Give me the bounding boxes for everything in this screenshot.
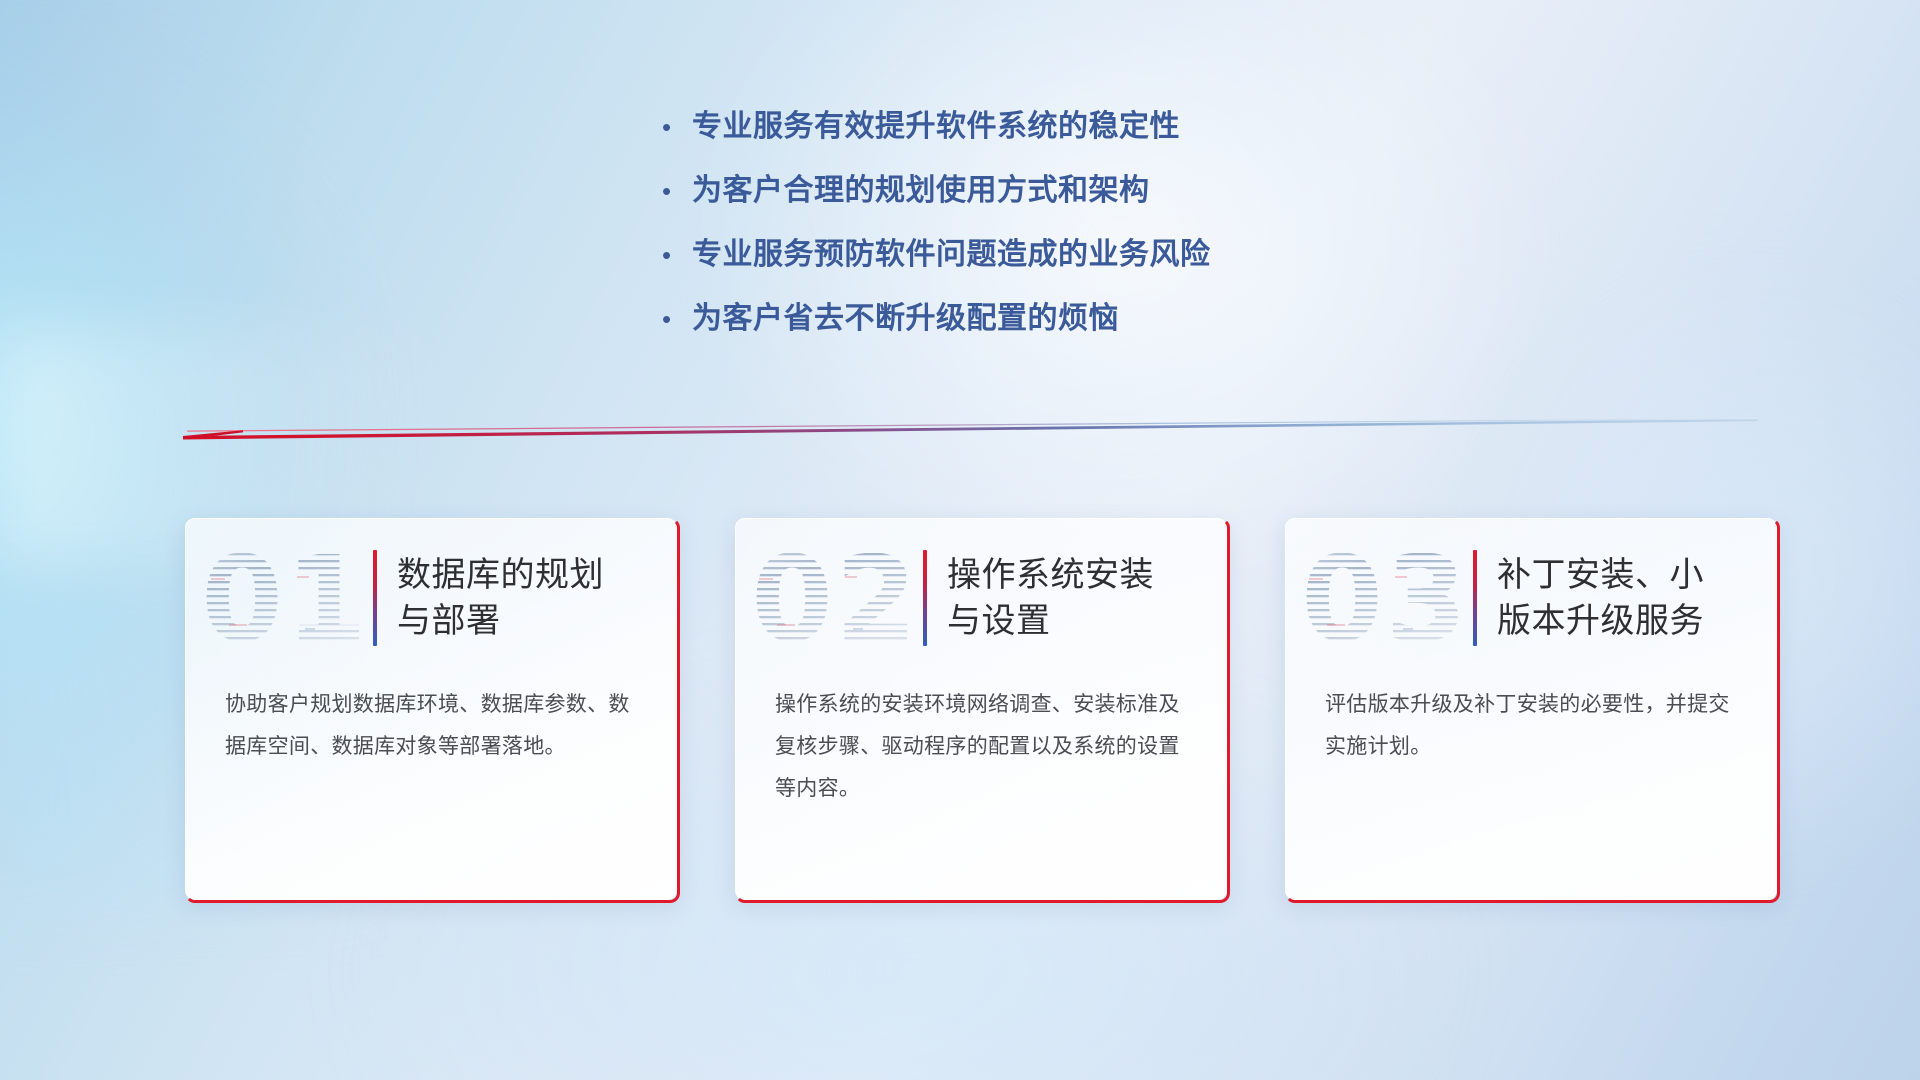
service-card-02[interactable]: 02 操作系统安装 与设置 操作系统的安装环境网络调查、安装标准及复核步骤、驱动… bbox=[735, 518, 1227, 900]
bullet-text: 专业服务有效提升软件系统的稳定性 bbox=[692, 108, 1180, 146]
list-item: • 为客户合理的规划使用方式和架构 bbox=[662, 172, 1422, 236]
list-item: • 为客户省去不断升级配置的烦恼 bbox=[662, 300, 1422, 364]
card-number-02: 02 bbox=[749, 532, 919, 664]
card-accent-bar bbox=[1473, 550, 1477, 646]
service-cards-row: 01 数据库的规划 与部署 协助客户规划数据库环境、数据库参数、数据库空间、数据… bbox=[185, 518, 1777, 914]
list-item: • 专业服务预防软件问题造成的业务风险 bbox=[662, 236, 1422, 300]
bullet-text: 专业服务预防软件问题造成的业务风险 bbox=[692, 236, 1211, 274]
svg-text:03: 03 bbox=[1301, 532, 1469, 664]
card-title-line1: 数据库的规划 bbox=[397, 552, 651, 598]
card-accent-bar bbox=[923, 550, 927, 646]
card-header: 01 数据库的规划 与部署 bbox=[185, 518, 677, 678]
card-number-03: 03 bbox=[1299, 532, 1469, 664]
striped-numeral-icon: 01 bbox=[199, 532, 369, 664]
card-title: 操作系统安装 与设置 bbox=[947, 552, 1201, 644]
card-title-line2: 与部署 bbox=[397, 598, 651, 644]
card-title-line2: 版本升级服务 bbox=[1497, 598, 1751, 644]
card-description: 评估版本升级及补丁安装的必要性，并提交实施计划。 bbox=[1285, 678, 1777, 768]
svg-text:02: 02 bbox=[751, 532, 919, 664]
bullet-dot-icon: • bbox=[662, 300, 692, 338]
bullet-text: 为客户省去不断升级配置的烦恼 bbox=[692, 300, 1119, 338]
card-header: 03 补丁安装、小 版本升级服务 bbox=[1285, 518, 1777, 678]
section-divider bbox=[183, 418, 1758, 440]
card-title-line1: 操作系统安装 bbox=[947, 552, 1201, 598]
card-title-line2: 与设置 bbox=[947, 598, 1201, 644]
service-card-01[interactable]: 01 数据库的规划 与部署 协助客户规划数据库环境、数据库参数、数据库空间、数据… bbox=[185, 518, 677, 900]
card-description: 协助客户规划数据库环境、数据库参数、数据库空间、数据库对象等部署落地。 bbox=[185, 678, 677, 768]
striped-numeral-icon: 03 bbox=[1299, 532, 1469, 664]
card-description: 操作系统的安装环境网络调查、安装标准及复核步骤、驱动程序的配置以及系统的设置等内… bbox=[735, 678, 1227, 810]
bullet-dot-icon: • bbox=[662, 236, 692, 274]
benefits-bullet-list: • 专业服务有效提升软件系统的稳定性 • 为客户合理的规划使用方式和架构 • 专… bbox=[662, 108, 1422, 364]
card-header: 02 操作系统安装 与设置 bbox=[735, 518, 1227, 678]
svg-text:01: 01 bbox=[201, 532, 369, 664]
bullet-dot-icon: • bbox=[662, 172, 692, 210]
card-title-line1: 补丁安装、小 bbox=[1497, 552, 1751, 598]
bullet-text: 为客户合理的规划使用方式和架构 bbox=[692, 172, 1150, 210]
card-title: 补丁安装、小 版本升级服务 bbox=[1497, 552, 1751, 644]
service-card-03[interactable]: 03 补丁安装、小 版本升级服务 评估版本升级及补丁安装的必要性，并提交实施计划… bbox=[1285, 518, 1777, 900]
card-number-01: 01 bbox=[199, 532, 369, 664]
bullet-dot-icon: • bbox=[662, 108, 692, 146]
striped-numeral-icon: 02 bbox=[749, 532, 919, 664]
list-item: • 专业服务有效提升软件系统的稳定性 bbox=[662, 108, 1422, 172]
divider-rule-icon bbox=[183, 418, 1758, 440]
card-accent-bar bbox=[373, 550, 377, 646]
card-title: 数据库的规划 与部署 bbox=[397, 552, 651, 644]
